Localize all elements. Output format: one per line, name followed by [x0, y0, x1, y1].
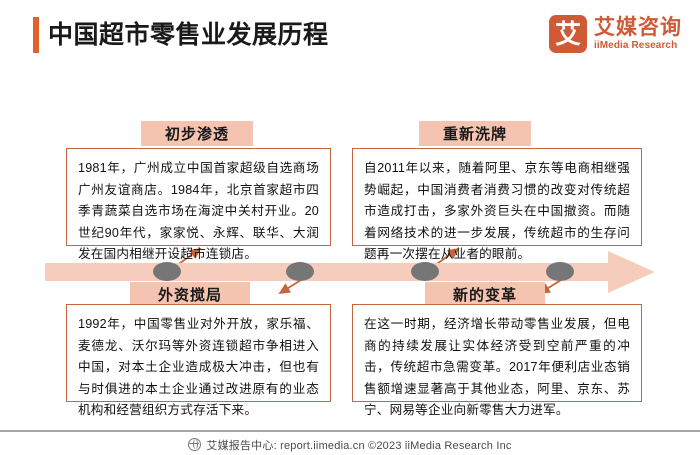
title-accent-bar: [33, 17, 39, 53]
page-header: 中国超市零售业发展历程 艾 艾媒咨询 iiMedia Research: [0, 0, 700, 70]
logo-text: 艾媒咨询 iiMedia Research: [594, 17, 682, 52]
stage-body-4: 在这一时期，经济增长带动零售业发展，但电商的持续发展让实体经济受到空前严重的冲击…: [364, 314, 630, 422]
stage-label-2[interactable]: 重新洗牌: [419, 121, 531, 146]
logo-name-cn: 艾媒咨询: [594, 17, 682, 39]
globe-icon: [188, 438, 201, 451]
page-footer: 艾媒报告中心: report.iimedia.cn ©2023 iiMedia …: [0, 434, 700, 455]
stage-textbox-3: 1992年，中国零售业对外开放，家乐福、麦德龙、沃尔玛等外资连锁超市争相进入中国…: [66, 304, 331, 402]
brand-logo: 艾 艾媒咨询 iiMedia Research: [549, 12, 682, 56]
page-title: 中国超市零售业发展历程: [48, 16, 329, 54]
logo-name-en: iiMedia Research: [594, 39, 682, 52]
stage-textbox-1: 1981年，广州成立中国首家超级自选商场广州友谊商店。1984年，北京首家超市四…: [66, 148, 331, 246]
stage-textbox-4: 在这一时期，经济增长带动零售业发展，但电商的持续发展让实体经济受到空前严重的冲击…: [352, 304, 642, 402]
footer-divider: [0, 430, 700, 432]
stage-body-1: 1981年，广州成立中国首家超级自选商场广州友谊商店。1984年，北京首家超市四…: [78, 158, 319, 266]
stage-body-3: 1992年，中国零售业对外开放，家乐福、麦德龙、沃尔玛等外资连锁超市争相进入中国…: [78, 314, 319, 422]
timeline-bar: [45, 263, 610, 281]
footer-text: 艾媒报告中心: report.iimedia.cn ©2023 iiMedia …: [206, 437, 511, 453]
stage-label-1[interactable]: 初步渗透: [141, 121, 253, 146]
stage-body-2: 自2011年以来，随着阿里、京东等电商相继强势崛起，中国消费者消费习惯的改变对传…: [364, 158, 630, 266]
stage-textbox-2: 自2011年以来，随着阿里、京东等电商相继强势崛起，中国消费者消费习惯的改变对传…: [352, 148, 642, 246]
logo-mark-icon: 艾: [549, 15, 587, 53]
